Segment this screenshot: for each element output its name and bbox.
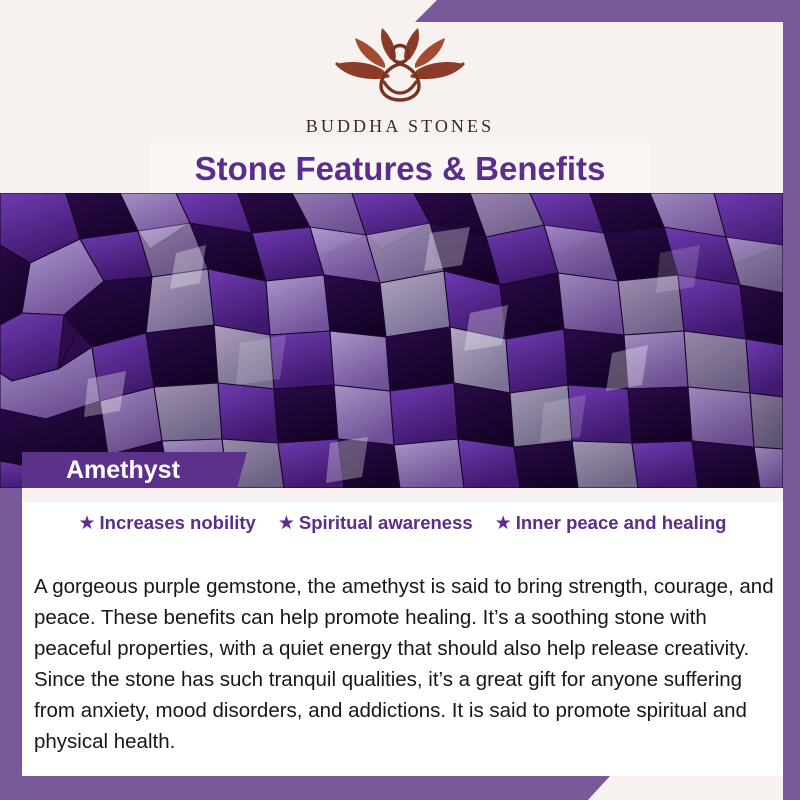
content-top-fade (22, 488, 783, 502)
page-title: Stone Features & Benefits (195, 152, 606, 185)
page-title-band: Stone Features & Benefits (150, 143, 650, 193)
frame-right-bar (783, 0, 800, 800)
brand-logo: BUDDHA STONES (0, 20, 800, 137)
benefit-item: ★ Spiritual awareness (278, 514, 473, 533)
amethyst-hero-image (0, 193, 783, 488)
star-icon: ★ (79, 514, 96, 533)
frame-top-bar (415, 0, 800, 22)
benefit-item: ★ Increases nobility (79, 514, 256, 533)
amethyst-crystal-cluster-graphic (0, 193, 783, 488)
star-icon: ★ (278, 514, 295, 533)
stone-name-banner: Amethyst (22, 452, 247, 488)
benefit-label: Spiritual awareness (299, 514, 473, 533)
stone-description: A gorgeous purple gemstone, the amethyst… (34, 571, 776, 757)
benefits-list: ★ Increases nobility ★ Spiritual awarene… (22, 514, 783, 533)
content-panel: ★ Increases nobility ★ Spiritual awarene… (22, 488, 783, 776)
brand-name: BUDDHA STONES (306, 116, 495, 137)
stone-benefits-poster: BUDDHA STONES Stone Features & Benefits (0, 0, 800, 800)
frame-left-bar (0, 488, 22, 800)
stone-name: Amethyst (22, 458, 180, 483)
lotus-meditation-figure-icon (325, 20, 475, 112)
benefit-label: Increases nobility (100, 514, 256, 533)
frame-bottom-bar (0, 776, 610, 800)
benefit-item: ★ Inner peace and healing (495, 514, 727, 533)
star-icon: ★ (495, 514, 512, 533)
benefit-label: Inner peace and healing (516, 514, 727, 533)
